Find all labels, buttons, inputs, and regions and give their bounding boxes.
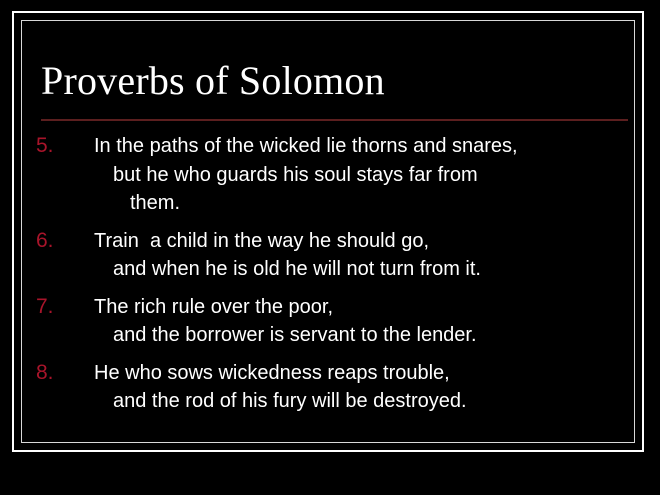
verse-text-block: He who sows wickedness reaps trouble,and… <box>94 359 632 416</box>
verse-item: 5.In the paths of the wicked lie thorns … <box>36 132 632 218</box>
verse-line: and the rod of his fury will be destroye… <box>94 387 632 416</box>
verse-item: 8.He who sows wickedness reaps trouble,a… <box>36 359 632 416</box>
verse-number: 6. <box>36 227 80 255</box>
verse-line: and when he is old he will not turn from… <box>94 255 632 284</box>
verse-line: them. <box>94 189 632 218</box>
verse-number: 8. <box>36 359 80 387</box>
verse-line: The rich rule over the poor, <box>94 293 632 322</box>
verse-text-block: In the paths of the wicked lie thorns an… <box>94 132 632 218</box>
verse-line: Train a child in the way he should go, <box>94 227 632 256</box>
title-block: Proverbs of Solomon <box>41 58 630 104</box>
verse-line: He who sows wickedness reaps trouble, <box>94 359 632 388</box>
verse-line: but he who guards his soul stays far fro… <box>94 161 632 190</box>
verse-number: 7. <box>36 293 80 321</box>
verse-number: 5. <box>36 132 80 160</box>
title-divider-rule <box>41 119 628 121</box>
presentation-slide: Proverbs of Solomon 5.In the paths of th… <box>0 0 660 495</box>
page-title: Proverbs of Solomon <box>41 58 630 104</box>
verse-text-block: Train a child in the way he should go,an… <box>94 227 632 284</box>
verse-item: 7.The rich rule over the poor,and the bo… <box>36 293 632 350</box>
verse-text-block: The rich rule over the poor,and the borr… <box>94 293 632 350</box>
verse-line: and the borrower is servant to the lende… <box>94 321 632 350</box>
verse-item: 6.Train a child in the way he should go,… <box>36 227 632 284</box>
verse-line: In the paths of the wicked lie thorns an… <box>94 132 632 161</box>
verse-list: 5.In the paths of the wicked lie thorns … <box>36 132 632 416</box>
